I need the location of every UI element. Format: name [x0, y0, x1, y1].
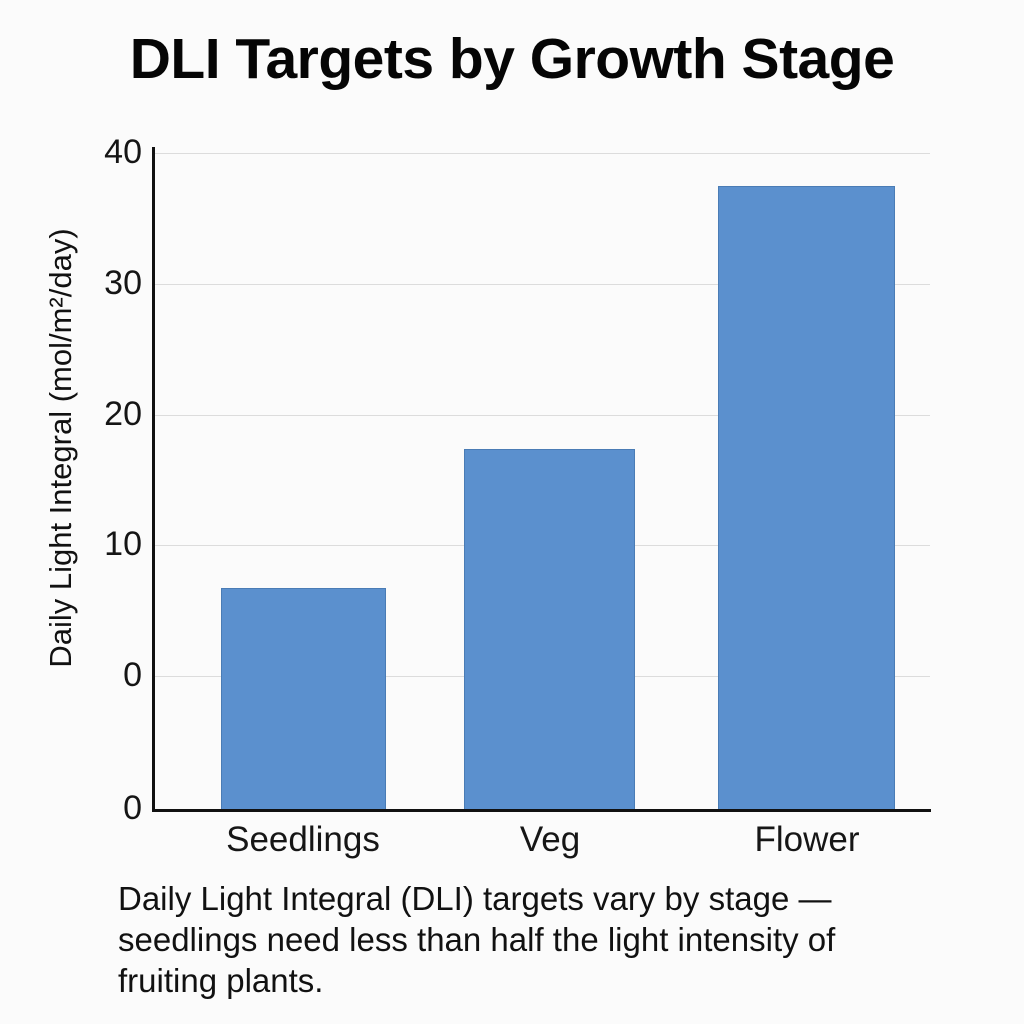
gridline-40 [152, 153, 930, 154]
caption-line-1: Daily Light Integral (DLI) targets vary … [118, 878, 918, 919]
bar-veg[interactable] [464, 449, 635, 810]
bar-seedlings[interactable] [221, 588, 386, 810]
x-tick-label-flower: Flower [707, 820, 907, 860]
chart-caption: Daily Light Integral (DLI) targets vary … [118, 878, 918, 1001]
y-tick-label-40: 40 [58, 133, 142, 172]
chart-title: DLI Targets by Growth Stage [0, 26, 1024, 92]
caption-line-3: fruiting plants. [118, 960, 918, 1001]
chart-figure: DLI Targets by Growth Stage 40 30 20 10 … [0, 0, 1024, 1024]
caption-line-2: seedlings need less than half the light … [118, 919, 918, 960]
x-tick-label-veg: Veg [450, 820, 650, 860]
x-tick-label-seedlings: Seedlings [203, 820, 403, 860]
y-axis-line [152, 147, 155, 812]
y-axis-title: Daily Light Integral (mol/m²/day) [43, 168, 79, 728]
y-axis-base-label: 0 [58, 789, 142, 828]
x-axis-line [152, 809, 931, 812]
bar-flower[interactable] [718, 186, 895, 810]
